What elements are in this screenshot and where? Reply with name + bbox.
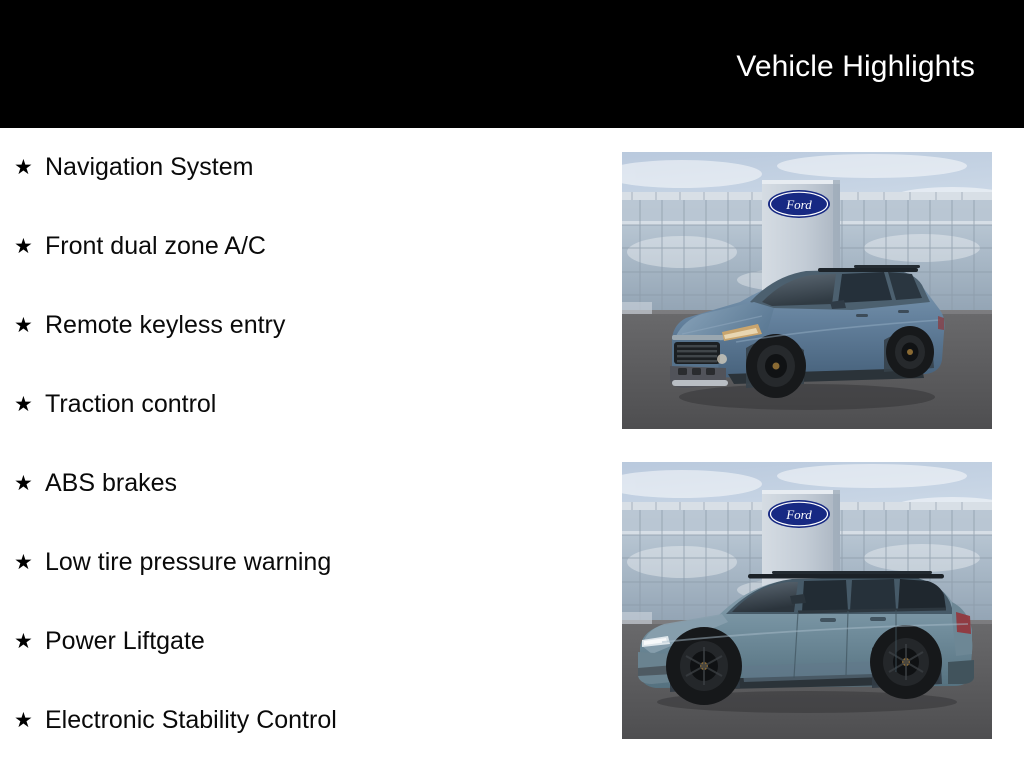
page-title: Vehicle Highlights bbox=[736, 50, 975, 84]
svg-text:Ford: Ford bbox=[785, 197, 812, 212]
star-icon: ★ bbox=[14, 552, 45, 573]
list-item: ★ Remote keyless entry bbox=[0, 286, 600, 365]
star-icon: ★ bbox=[14, 473, 45, 494]
star-icon: ★ bbox=[14, 710, 45, 731]
list-item: ★ Front dual zone A/C bbox=[0, 207, 600, 286]
list-item-label: Low tire pressure warning bbox=[45, 548, 331, 577]
list-item-label: Navigation System bbox=[45, 153, 253, 182]
list-item-label: Front dual zone A/C bbox=[45, 232, 266, 261]
list-item: ★ Electronic Stability Control bbox=[0, 681, 600, 760]
ford-logo-icon: Ford bbox=[768, 500, 830, 528]
list-item: ★ Traction control bbox=[0, 365, 600, 444]
list-item-label: Traction control bbox=[45, 390, 216, 419]
vehicle-front-image: Ford bbox=[622, 152, 992, 429]
vehicle-photo-front[interactable]: Ford bbox=[622, 152, 992, 429]
star-icon: ★ bbox=[14, 236, 45, 257]
star-icon: ★ bbox=[14, 315, 45, 336]
list-item-label: Power Liftgate bbox=[45, 627, 205, 656]
star-icon: ★ bbox=[14, 631, 45, 652]
vehicle-highlights-list: ★ Navigation System ★ Front dual zone A/… bbox=[0, 128, 600, 760]
svg-text:Ford: Ford bbox=[785, 507, 812, 522]
star-icon: ★ bbox=[14, 394, 45, 415]
list-item-label: Electronic Stability Control bbox=[45, 706, 337, 735]
star-icon: ★ bbox=[14, 157, 45, 178]
list-item: ★ Navigation System bbox=[0, 128, 600, 207]
vehicle-side-image: Ford bbox=[622, 462, 992, 739]
vehicle-photo-side[interactable]: Ford bbox=[622, 462, 992, 739]
list-item: ★ ABS brakes bbox=[0, 444, 600, 523]
list-item-label: Remote keyless entry bbox=[45, 311, 285, 340]
ford-logo-icon: Ford bbox=[768, 190, 830, 218]
header-bar: Vehicle Highlights bbox=[0, 0, 1024, 128]
list-item: ★ Power Liftgate bbox=[0, 602, 600, 681]
list-item: ★ Low tire pressure warning bbox=[0, 523, 600, 602]
list-item-label: ABS brakes bbox=[45, 469, 177, 498]
